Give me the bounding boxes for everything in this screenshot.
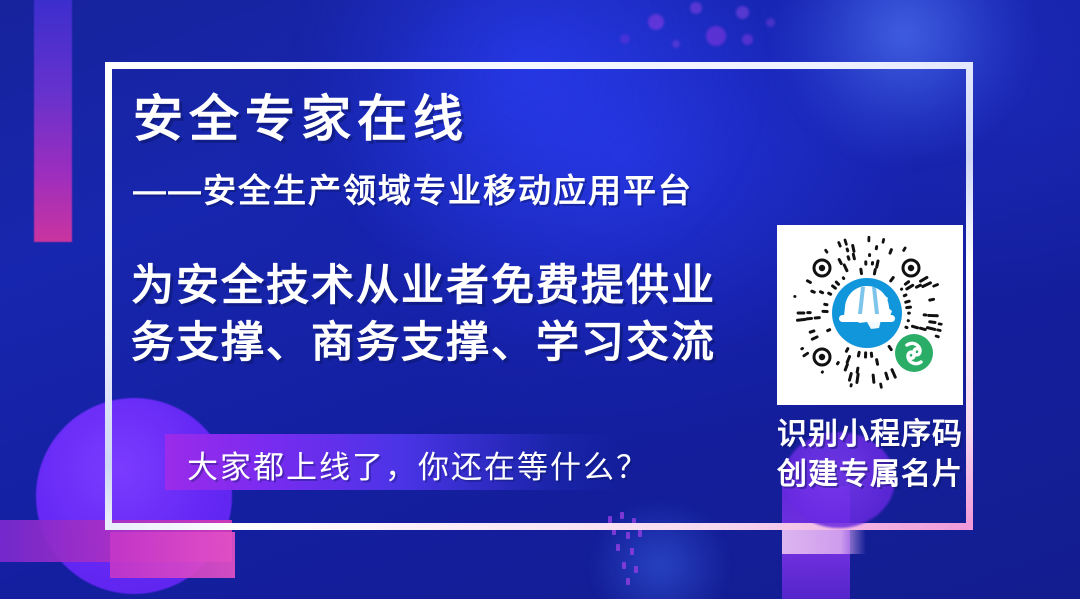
qr-code-card[interactable] — [777, 225, 963, 405]
poster-content: 安全专家在线 ——安全生产领域专业移动应用平台 为安全技术从业者免费提供业 务支… — [0, 0, 1080, 599]
mini-program-badge — [895, 334, 933, 372]
promo-poster: 安全专家在线 ——安全生产领域专业移动应用平台 为安全技术从业者免费提供业 务支… — [0, 0, 1080, 599]
tagline-block: 大家都上线了，你还在等什么？ — [165, 434, 620, 490]
body-copy: 为安全技术从业者免费提供业 务支撑、商务支撑、学习交流 — [131, 258, 716, 372]
qr-caption-line-2: 创建专属名片 — [777, 455, 977, 495]
page-title: 安全专家在线 — [133, 92, 469, 147]
wechat-mini-program-qr-icon[interactable] — [777, 225, 963, 405]
qr-caption: 识别小程序码 创建专属名片 — [777, 415, 977, 495]
body-copy-line-1: 为安全技术从业者免费提供业 — [131, 258, 716, 315]
subtitle: ——安全生产领域专业移动应用平台 — [133, 172, 693, 210]
qr-caption-line-1: 识别小程序码 — [777, 415, 977, 455]
body-copy-line-2: 务支撑、商务支撑、学习交流 — [131, 315, 716, 372]
tagline-text: 大家都上线了，你还在等什么？ — [187, 442, 649, 487]
